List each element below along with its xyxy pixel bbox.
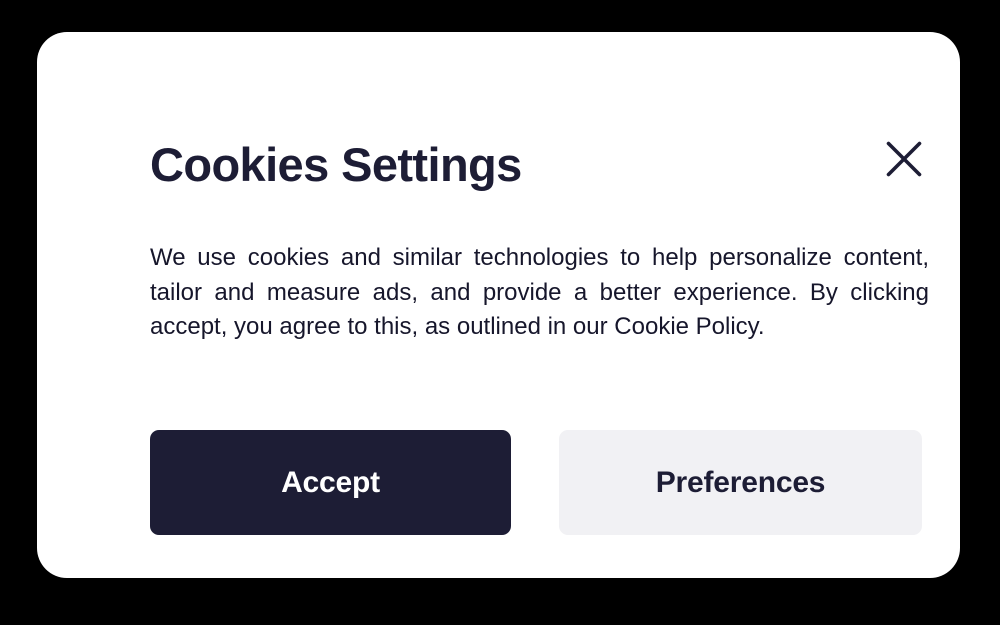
close-button[interactable] [881, 136, 927, 182]
dialog-actions: Accept Preferences [150, 430, 922, 535]
dialog-header: Cookies Settings [150, 134, 927, 196]
page-title: Cookies Settings [150, 134, 927, 196]
accept-button[interactable]: Accept [150, 430, 511, 535]
close-icon [886, 141, 922, 177]
cookies-settings-dialog: Cookies Settings We use cookies and simi… [37, 32, 960, 578]
dialog-description: We use cookies and similar technologies … [150, 241, 929, 345]
preferences-button[interactable]: Preferences [559, 430, 922, 535]
